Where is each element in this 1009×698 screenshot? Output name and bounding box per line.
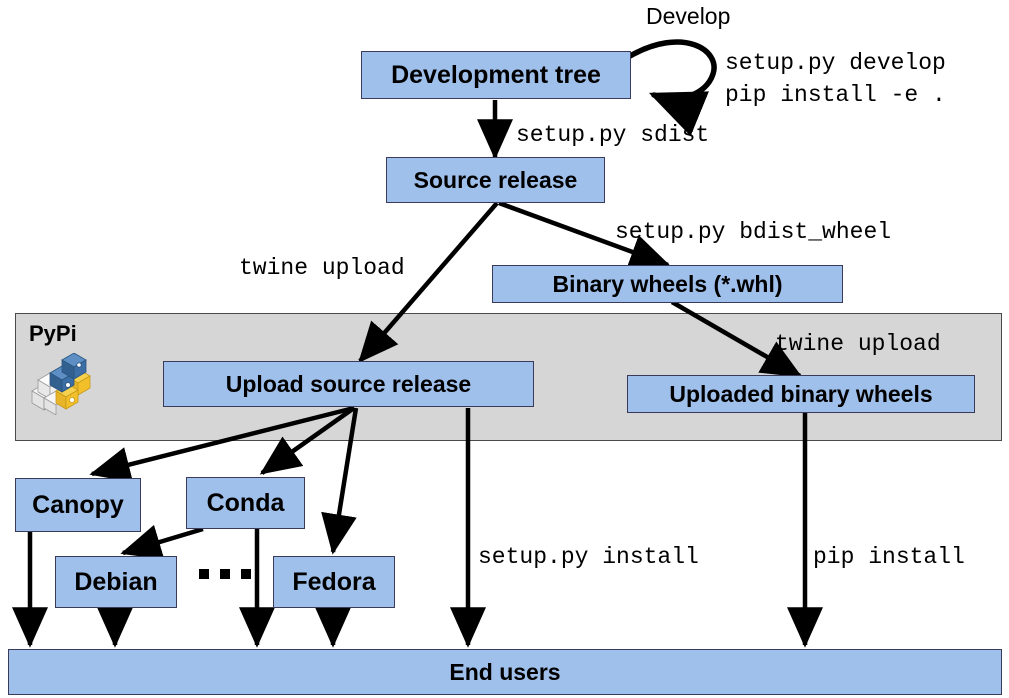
label-setup-py-install: setup.py install (478, 544, 699, 570)
ellipsis-dot (220, 569, 230, 579)
edge-source-to-upload-source (360, 203, 497, 361)
label-setup-py-develop: setup.py develop (725, 50, 946, 76)
node-source-release[interactable]: Source release (386, 157, 605, 203)
label-twine-upload-binary: twine upload (775, 331, 941, 357)
package-distribution-diagram: PyPi (0, 0, 1009, 698)
label-pip-install-editable: pip install -e . (725, 82, 946, 108)
node-fedora[interactable]: Fedora (273, 556, 395, 608)
node-uploaded-binary-wheels[interactable]: Uploaded binary wheels (627, 375, 975, 413)
node-end-users[interactable]: End users (8, 649, 1002, 695)
node-canopy[interactable]: Canopy (15, 478, 141, 532)
edge-upload-to-fedora (333, 408, 356, 552)
node-upload-source-release[interactable]: Upload source release (163, 361, 534, 407)
label-develop: Develop (646, 3, 730, 30)
node-development-tree[interactable]: Development tree (361, 51, 631, 99)
ellipsis-dot (199, 569, 209, 579)
edge-develop-self-loop (630, 42, 714, 99)
node-conda[interactable]: Conda (186, 477, 305, 529)
ellipsis-more-distros (199, 569, 251, 579)
label-setup-py-bdist-wheel: setup.py bdist_wheel (615, 219, 891, 245)
label-pip-install: pip install (813, 544, 965, 570)
label-twine-upload-source: twine upload (239, 255, 405, 281)
node-debian[interactable]: Debian (55, 556, 177, 608)
node-binary-wheels[interactable]: Binary wheels (*.whl) (492, 265, 843, 303)
ellipsis-dot (241, 569, 251, 579)
edge-upload-to-canopy (92, 408, 354, 474)
edge-conda-to-debian (123, 529, 203, 553)
label-setup-py-sdist: setup.py sdist (516, 122, 709, 148)
